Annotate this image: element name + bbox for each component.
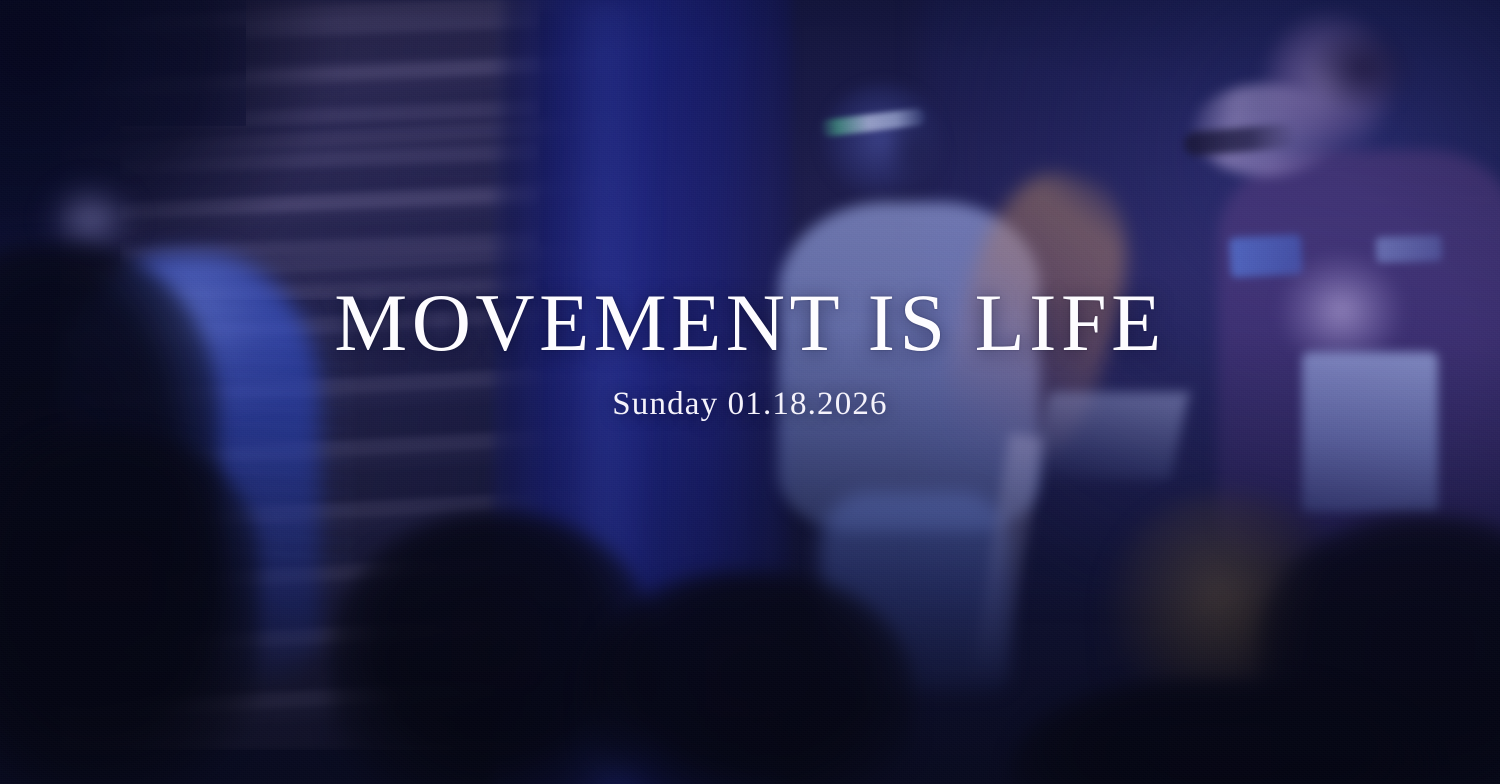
title-slide: MOVEMENT IS LIFE Sunday 01.18.2026 bbox=[0, 0, 1500, 784]
film-grain bbox=[0, 0, 1500, 784]
stage-photograph bbox=[0, 0, 1500, 784]
